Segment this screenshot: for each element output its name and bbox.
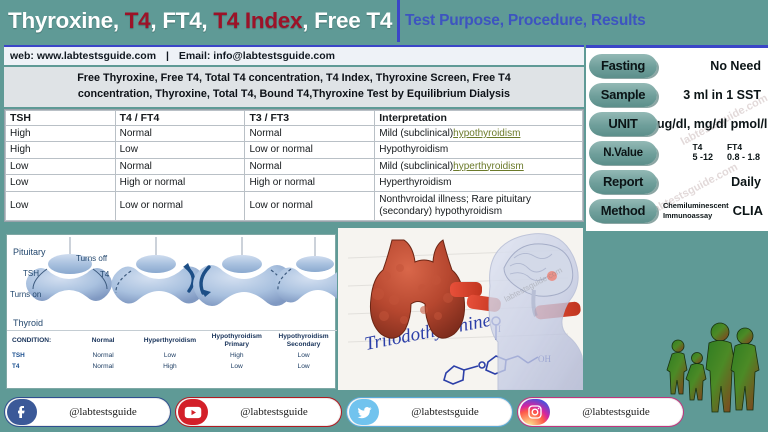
interp-text: Mild (subclinical): [379, 161, 453, 172]
instagram-handle: @labtestsguide: [550, 406, 682, 418]
thyroid-feedback-diagram: Pituitary Thyroid TSH T4 Turns on Turns …: [6, 234, 336, 389]
diagram-data-table: CONDITION: Normal Hyperthyroidism Hypoth…: [7, 330, 337, 390]
cell-interpretation: Mild (subclinical)hypothyroidism: [375, 126, 583, 142]
diagram-row-label-tsh: TSH: [7, 350, 70, 361]
title-comma-4: ,: [302, 8, 314, 33]
contact-bar: web: www.labtestsguide.com | Email: info…: [4, 45, 584, 65]
condition-hypo-primary: HypothyroidismPrimary: [203, 331, 270, 350]
label-unit: UNIT: [589, 112, 657, 136]
cell-interpretation: Hyperthyroidism: [375, 175, 583, 191]
youtube-handle: @labtestsguide: [208, 406, 340, 418]
nv-range-t4: 5 -12: [692, 152, 713, 163]
cell-t3: Normal: [245, 158, 375, 174]
tsh-normal: Normal: [70, 350, 137, 361]
nv-range-ft4: 0.8 - 1.8: [727, 152, 760, 163]
table-row: High Low Low or normal Hypothyroidism: [6, 142, 583, 158]
t4-hypo-primary: Low: [203, 362, 270, 373]
diagram-row-condition: CONDITION: Normal Hyperthyroidism Hypoth…: [7, 331, 337, 350]
cell-t3: Low or normal: [245, 191, 375, 220]
interp-link[interactable]: hypothyroidism: [453, 128, 520, 139]
youtube-glyph: [184, 406, 202, 419]
cell-tsh: High: [6, 126, 116, 142]
normal-value-grid: T4 5 -12 FT4 0.8 - 1.8: [657, 142, 768, 163]
method-line-2: Immunoassay: [663, 211, 729, 220]
method-full-name: Chemiluminescent Immunoassay: [663, 201, 729, 220]
website-label: web: www.labtestsguide.com | Email: info…: [4, 50, 335, 62]
info-row-unit: UNIT ug/dl, mg/dl pmol/l: [586, 109, 768, 138]
email-label-text: Email:: [179, 50, 211, 62]
cond-l1: Hyperthyroidism: [144, 337, 196, 344]
info-row-normal-value: N.Value T4 5 -12 FT4 0.8 - 1.8: [586, 138, 768, 167]
cell-t4: Normal: [115, 158, 245, 174]
header-divider: [397, 0, 400, 42]
cond-l2: Primary: [224, 341, 249, 348]
cell-interpretation: Nonthvroidal illness; Rare pituitary (se…: [375, 191, 583, 220]
condition-hypo-secondary: HypothyroidismSecondary: [270, 331, 337, 350]
nv-key-ft4: FT4: [727, 142, 760, 152]
interp-text: Mild (subclinical): [379, 128, 453, 139]
column-header-t4ft4: T4 / FT4: [115, 111, 245, 126]
description-line-2: concentration, Thyroxine, Total T4, Boun…: [78, 87, 510, 103]
infographic-page: Thyroxine, T4, FT4, T4 Index, Free T4 Te…: [0, 0, 768, 432]
page-subtitle: Test Purpose, Procedure, Results: [405, 12, 646, 30]
title-comma-2: ,: [150, 8, 162, 33]
title-word-t4-index: T4 Index: [213, 8, 302, 33]
diagram-row-label-condition: CONDITION:: [7, 331, 70, 350]
condition-normal: Normal: [70, 331, 137, 350]
label-fasting: Fasting: [589, 54, 657, 78]
label-t4: T4: [100, 270, 109, 279]
label-turns-off: Turns off: [76, 254, 107, 263]
value-sample: 3 ml in 1 SST: [657, 88, 768, 102]
cell-tsh: Low: [6, 175, 116, 191]
label-pituitary: Pituitary: [13, 247, 46, 257]
cond-l2: Secondary: [287, 341, 321, 348]
instagram-glyph: [527, 404, 543, 420]
page-title: Thyroxine, T4, FT4, T4 Index, Free T4: [0, 8, 392, 34]
condition-hyperthyroidism: Hyperthyroidism: [137, 331, 204, 350]
table-row: High Normal Normal Mild (subclinical)hyp…: [6, 126, 583, 142]
facebook-glyph: [14, 404, 30, 420]
cell-t3: Low or normal: [245, 142, 375, 158]
interpretation-table-container: TSH T4 / FT4 T3 / FT3 Interpretation Hig…: [4, 109, 584, 222]
cell-interpretation: Mild (subclinical)hyperthyroidism: [375, 158, 583, 174]
label-normal-value: N.Value: [589, 141, 657, 165]
cell-t4: Normal: [115, 126, 245, 142]
social-footer: @labtestsguide @labtestsguide: [4, 396, 684, 428]
web-label-text: web:: [10, 50, 34, 62]
tsh-hypo-secondary: Low: [270, 350, 337, 361]
contact-separator: |: [159, 50, 176, 62]
collage-graphic: Triiodothyronine OH I: [338, 228, 583, 390]
label-report: Report: [589, 170, 657, 194]
value-fasting: No Need: [657, 59, 768, 73]
title-word-t4: T4: [125, 8, 151, 33]
social-badge-instagram-outer[interactable]: @labtestsguide: [517, 397, 684, 427]
table-row: Low Low or normal Low or normal Nonthvro…: [6, 191, 583, 220]
info-row-sample: Sample 3 ml in 1 SST: [586, 80, 768, 109]
instagram-icon[interactable]: [520, 399, 550, 425]
diagram-row-label-t4: T4: [7, 362, 70, 373]
table-row: Low Normal Normal Mild (subclinical)hype…: [6, 158, 583, 174]
cell-tsh: High: [6, 142, 116, 158]
social-badge-facebook-outer[interactable]: @labtestsguide: [4, 397, 171, 427]
cell-interpretation: Hypothyroidism: [375, 142, 583, 158]
label-tsh: TSH: [23, 269, 39, 278]
column-header-interpretation: Interpretation: [375, 111, 583, 126]
cell-tsh: Low: [6, 191, 116, 220]
social-badge-twitter-outer[interactable]: @labtestsguide: [346, 397, 513, 427]
cond-l1: Hypothyroidism: [278, 333, 328, 340]
facebook-icon[interactable]: [7, 399, 37, 425]
cell-t3: Normal: [245, 126, 375, 142]
title-comma-3: ,: [201, 8, 213, 33]
social-badge-youtube[interactable]: @labtestsguide: [176, 398, 341, 426]
t4-hypo-secondary: Low: [270, 362, 337, 373]
tsh-hyper: Low: [137, 350, 204, 361]
table-row: Low High or normal High or normal Hypert…: [6, 175, 583, 191]
twitter-icon[interactable]: [349, 399, 379, 425]
interpretation-table: TSH T4 / FT4 T3 / FT3 Interpretation Hig…: [5, 110, 583, 221]
cond-l1: Hypothyroidism: [212, 333, 262, 340]
website-url[interactable]: www.labtestsguide.com: [37, 50, 156, 62]
social-badge-twitter[interactable]: @labtestsguide: [347, 398, 512, 426]
normal-value-ft4: FT4 0.8 - 1.8: [727, 142, 760, 163]
info-row-report: Report Daily: [586, 167, 768, 196]
value-unit: ug/dl, mg/dl pmol/l: [657, 117, 768, 131]
diagram-illustration: Pituitary Thyroid TSH T4 Turns on Turns …: [7, 235, 335, 330]
label-method: Method: [589, 199, 657, 223]
facebook-handle: @labtestsguide: [37, 406, 169, 418]
column-header-tsh: TSH: [6, 111, 116, 126]
info-row-method: Method Chemiluminescent Immunoassay CLIA: [586, 196, 768, 225]
social-badge-youtube-outer[interactable]: @labtestsguide: [175, 397, 342, 427]
cell-tsh: Low: [6, 158, 116, 174]
cell-t4: Low or normal: [115, 191, 245, 220]
feedback-loop-graphic: [7, 235, 337, 330]
method-line-1: Chemiluminescent: [663, 201, 729, 210]
thyroid-photo-collage: Triiodothyronine OH I: [338, 228, 583, 390]
interp-link[interactable]: hyperthyroidism: [453, 161, 524, 172]
social-badge-facebook[interactable]: @labtestsguide: [5, 398, 170, 426]
value-report: Daily: [657, 175, 768, 189]
cond-l1: Normal: [92, 337, 115, 344]
diagram-row-t4: T4 Normal High Low Low: [7, 362, 337, 373]
t4-normal: Normal: [70, 362, 137, 373]
cell-t4: High or normal: [115, 175, 245, 191]
cell-t4: Low: [115, 142, 245, 158]
nv-key-t4: T4: [692, 142, 713, 152]
t4-hyper: High: [137, 362, 204, 373]
twitter-glyph: [356, 405, 373, 420]
table-header-row: TSH T4 / FT4 T3 / FT3 Interpretation: [6, 111, 583, 126]
title-comma-1: ,: [113, 8, 125, 33]
youtube-icon[interactable]: [178, 399, 208, 425]
tsh-hypo-primary: High: [203, 350, 270, 361]
description-line-1: Free Thyroxine, Free T4, Total T4 concen…: [77, 71, 511, 87]
title-word-ft4: FT4: [162, 8, 201, 33]
cell-t3: High or normal: [245, 175, 375, 191]
label-sample: Sample: [589, 83, 657, 107]
method-abbreviation: CLIA: [733, 203, 763, 218]
normal-value-t4: T4 5 -12: [692, 142, 713, 163]
test-info-sidebar: labtestsguide.com labtestsguide.com Fast…: [586, 45, 768, 231]
twitter-handle: @labtestsguide: [379, 406, 511, 418]
description-block: Free Thyroxine, Free T4, Total T4 concen…: [4, 67, 584, 107]
value-method: Chemiluminescent Immunoassay CLIA: [657, 201, 768, 220]
condition-table: CONDITION: Normal Hyperthyroidism Hypoth…: [7, 331, 337, 373]
diagram-row-tsh: TSH Normal Low High Low: [7, 350, 337, 361]
title-word-free-t4: Free T4: [314, 8, 392, 33]
title-word-thyroxine: Thyroxine: [8, 8, 113, 33]
email-address[interactable]: info@labtestsguide.com: [213, 50, 335, 62]
page-header: Thyroxine, T4, FT4, T4 Index, Free T4 Te…: [0, 0, 768, 42]
label-turns-on: Turns on: [10, 290, 41, 299]
info-row-fasting: Fasting No Need: [586, 51, 768, 80]
label-thyroid: Thyroid: [13, 318, 43, 328]
social-badge-instagram[interactable]: @labtestsguide: [518, 398, 683, 426]
column-header-t3ft3: T3 / FT3: [245, 111, 375, 126]
